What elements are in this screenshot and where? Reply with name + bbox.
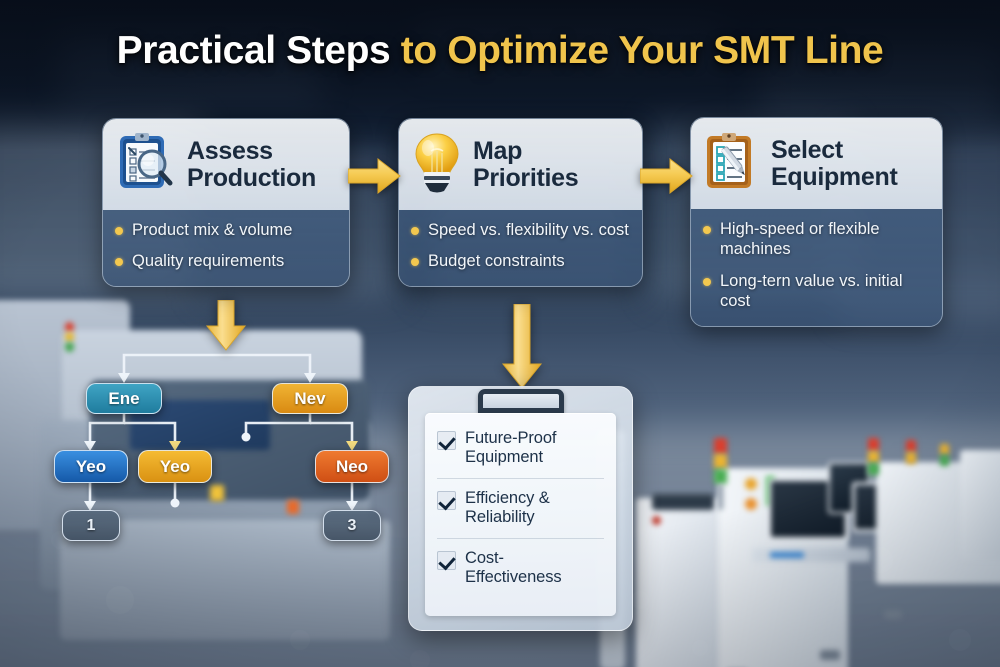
checklist-label-line1: Cost- bbox=[465, 549, 504, 567]
node-ene[interactable]: Ene bbox=[86, 383, 162, 414]
title-part-white: Practical Steps bbox=[117, 29, 391, 72]
bullet-item: Budget constraints bbox=[411, 251, 630, 271]
bullet-text: Budget constraints bbox=[428, 251, 565, 271]
checklist-label-line1: Future-Proof bbox=[465, 429, 556, 447]
node-neo[interactable]: Neo bbox=[315, 450, 389, 483]
infographic-canvas: Practical Steps to Optimize Your SMT Lin… bbox=[0, 0, 1000, 667]
clipboard-magnifier-icon bbox=[115, 131, 177, 198]
step-card-assess-production[interactable]: Assess Production Product mix & volume Q… bbox=[102, 118, 350, 287]
checklist-label-line2: Effectiveness bbox=[465, 568, 562, 586]
bullet-dot-icon bbox=[411, 258, 419, 266]
bullet-item: Speed vs. flexibility vs. cost bbox=[411, 220, 630, 240]
bullet-item: Quality requirements bbox=[115, 251, 337, 271]
bullet-item: High-speed or flexible machines bbox=[703, 219, 930, 260]
checkbox-checked-icon[interactable] bbox=[437, 491, 456, 510]
arrow-right-step2-to-step3 bbox=[640, 156, 694, 201]
bullet-item: Product mix & volume bbox=[115, 220, 337, 240]
bullet-dot-icon bbox=[115, 227, 123, 235]
clipboard-pen-icon bbox=[703, 130, 761, 197]
card-title-line2: Equipment bbox=[771, 164, 897, 191]
checkbox-checked-icon[interactable] bbox=[437, 551, 456, 570]
node-count-3[interactable]: 3 bbox=[323, 510, 381, 541]
bullet-dot-icon bbox=[703, 226, 711, 234]
node-yeo-1[interactable]: Yeo bbox=[54, 450, 128, 483]
card-bullets: Product mix & volume Quality requirement… bbox=[103, 210, 349, 286]
clipboard-sheet: Future-Proof Equipment Efficiency & Reli… bbox=[425, 413, 616, 616]
card-header: Assess Production bbox=[103, 119, 349, 210]
bullet-item: Long-tern value vs. initial cost bbox=[703, 271, 930, 312]
checklist-label: Cost- Effectiveness bbox=[465, 549, 562, 588]
card-header: Map Priorities bbox=[399, 119, 642, 210]
checklist-label-line2: Equipment bbox=[465, 448, 543, 466]
card-bullets: High-speed or flexible machines Long-ter… bbox=[691, 209, 942, 326]
card-title: Assess Production bbox=[187, 138, 316, 191]
checklist-label: Efficiency & Reliability bbox=[465, 489, 550, 528]
card-title-line2: Production bbox=[187, 165, 316, 192]
card-title: Map Priorities bbox=[473, 138, 578, 191]
step-card-select-equipment[interactable]: Select Equipment High-speed or flexible … bbox=[690, 117, 943, 327]
bullet-text: Long-tern value vs. initial cost bbox=[720, 271, 930, 312]
checklist-label-line1: Efficiency & bbox=[465, 489, 550, 507]
checklist-item[interactable]: Future-Proof Equipment bbox=[437, 429, 604, 479]
flow-diagram: Ene Nev Yeo Yeo Neo 1 3 bbox=[62, 345, 402, 545]
card-title-line1: Select bbox=[771, 137, 897, 164]
arrow-down-step2-to-clipboard bbox=[500, 304, 544, 395]
bullet-text: Product mix & volume bbox=[132, 220, 292, 240]
checklist-label: Future-Proof Equipment bbox=[465, 429, 556, 468]
checkbox-checked-icon[interactable] bbox=[437, 431, 456, 450]
checklist-item[interactable]: Efficiency & Reliability bbox=[437, 489, 604, 539]
node-nev[interactable]: Nev bbox=[272, 383, 348, 414]
bullet-dot-icon bbox=[115, 258, 123, 266]
checklist-item[interactable]: Cost- Effectiveness bbox=[437, 549, 604, 588]
clipboard-clamp-icon bbox=[478, 389, 564, 413]
node-yeo-2[interactable]: Yeo bbox=[138, 450, 212, 483]
title-part-gold: to Optimize Your SMT Line bbox=[390, 29, 883, 72]
card-title: Select Equipment bbox=[771, 137, 897, 190]
arrow-right-step1-to-step2 bbox=[348, 156, 402, 201]
bullet-dot-icon bbox=[411, 227, 419, 235]
page-title: Practical Steps to Optimize Your SMT Lin… bbox=[0, 30, 1000, 73]
bullet-text: Speed vs. flexibility vs. cost bbox=[428, 220, 629, 240]
card-bullets: Speed vs. flexibility vs. cost Budget co… bbox=[399, 210, 642, 286]
bullet-text: Quality requirements bbox=[132, 251, 284, 271]
clipboard-checklist[interactable]: Future-Proof Equipment Efficiency & Reli… bbox=[408, 386, 633, 631]
card-title-line1: Map bbox=[473, 138, 578, 165]
card-header: Select Equipment bbox=[691, 118, 942, 209]
step-card-map-priorities[interactable]: Map Priorities Speed vs. flexibility vs.… bbox=[398, 118, 643, 287]
card-title-line1: Assess bbox=[187, 138, 316, 165]
bullet-dot-icon bbox=[703, 278, 711, 286]
card-title-line2: Priorities bbox=[473, 165, 578, 192]
checklist-label-line2: Reliability bbox=[465, 508, 535, 526]
node-count-1[interactable]: 1 bbox=[62, 510, 120, 541]
arrow-down-step1-to-flow bbox=[204, 300, 248, 357]
bullet-text: High-speed or flexible machines bbox=[720, 219, 930, 260]
lightbulb-icon bbox=[411, 131, 463, 198]
